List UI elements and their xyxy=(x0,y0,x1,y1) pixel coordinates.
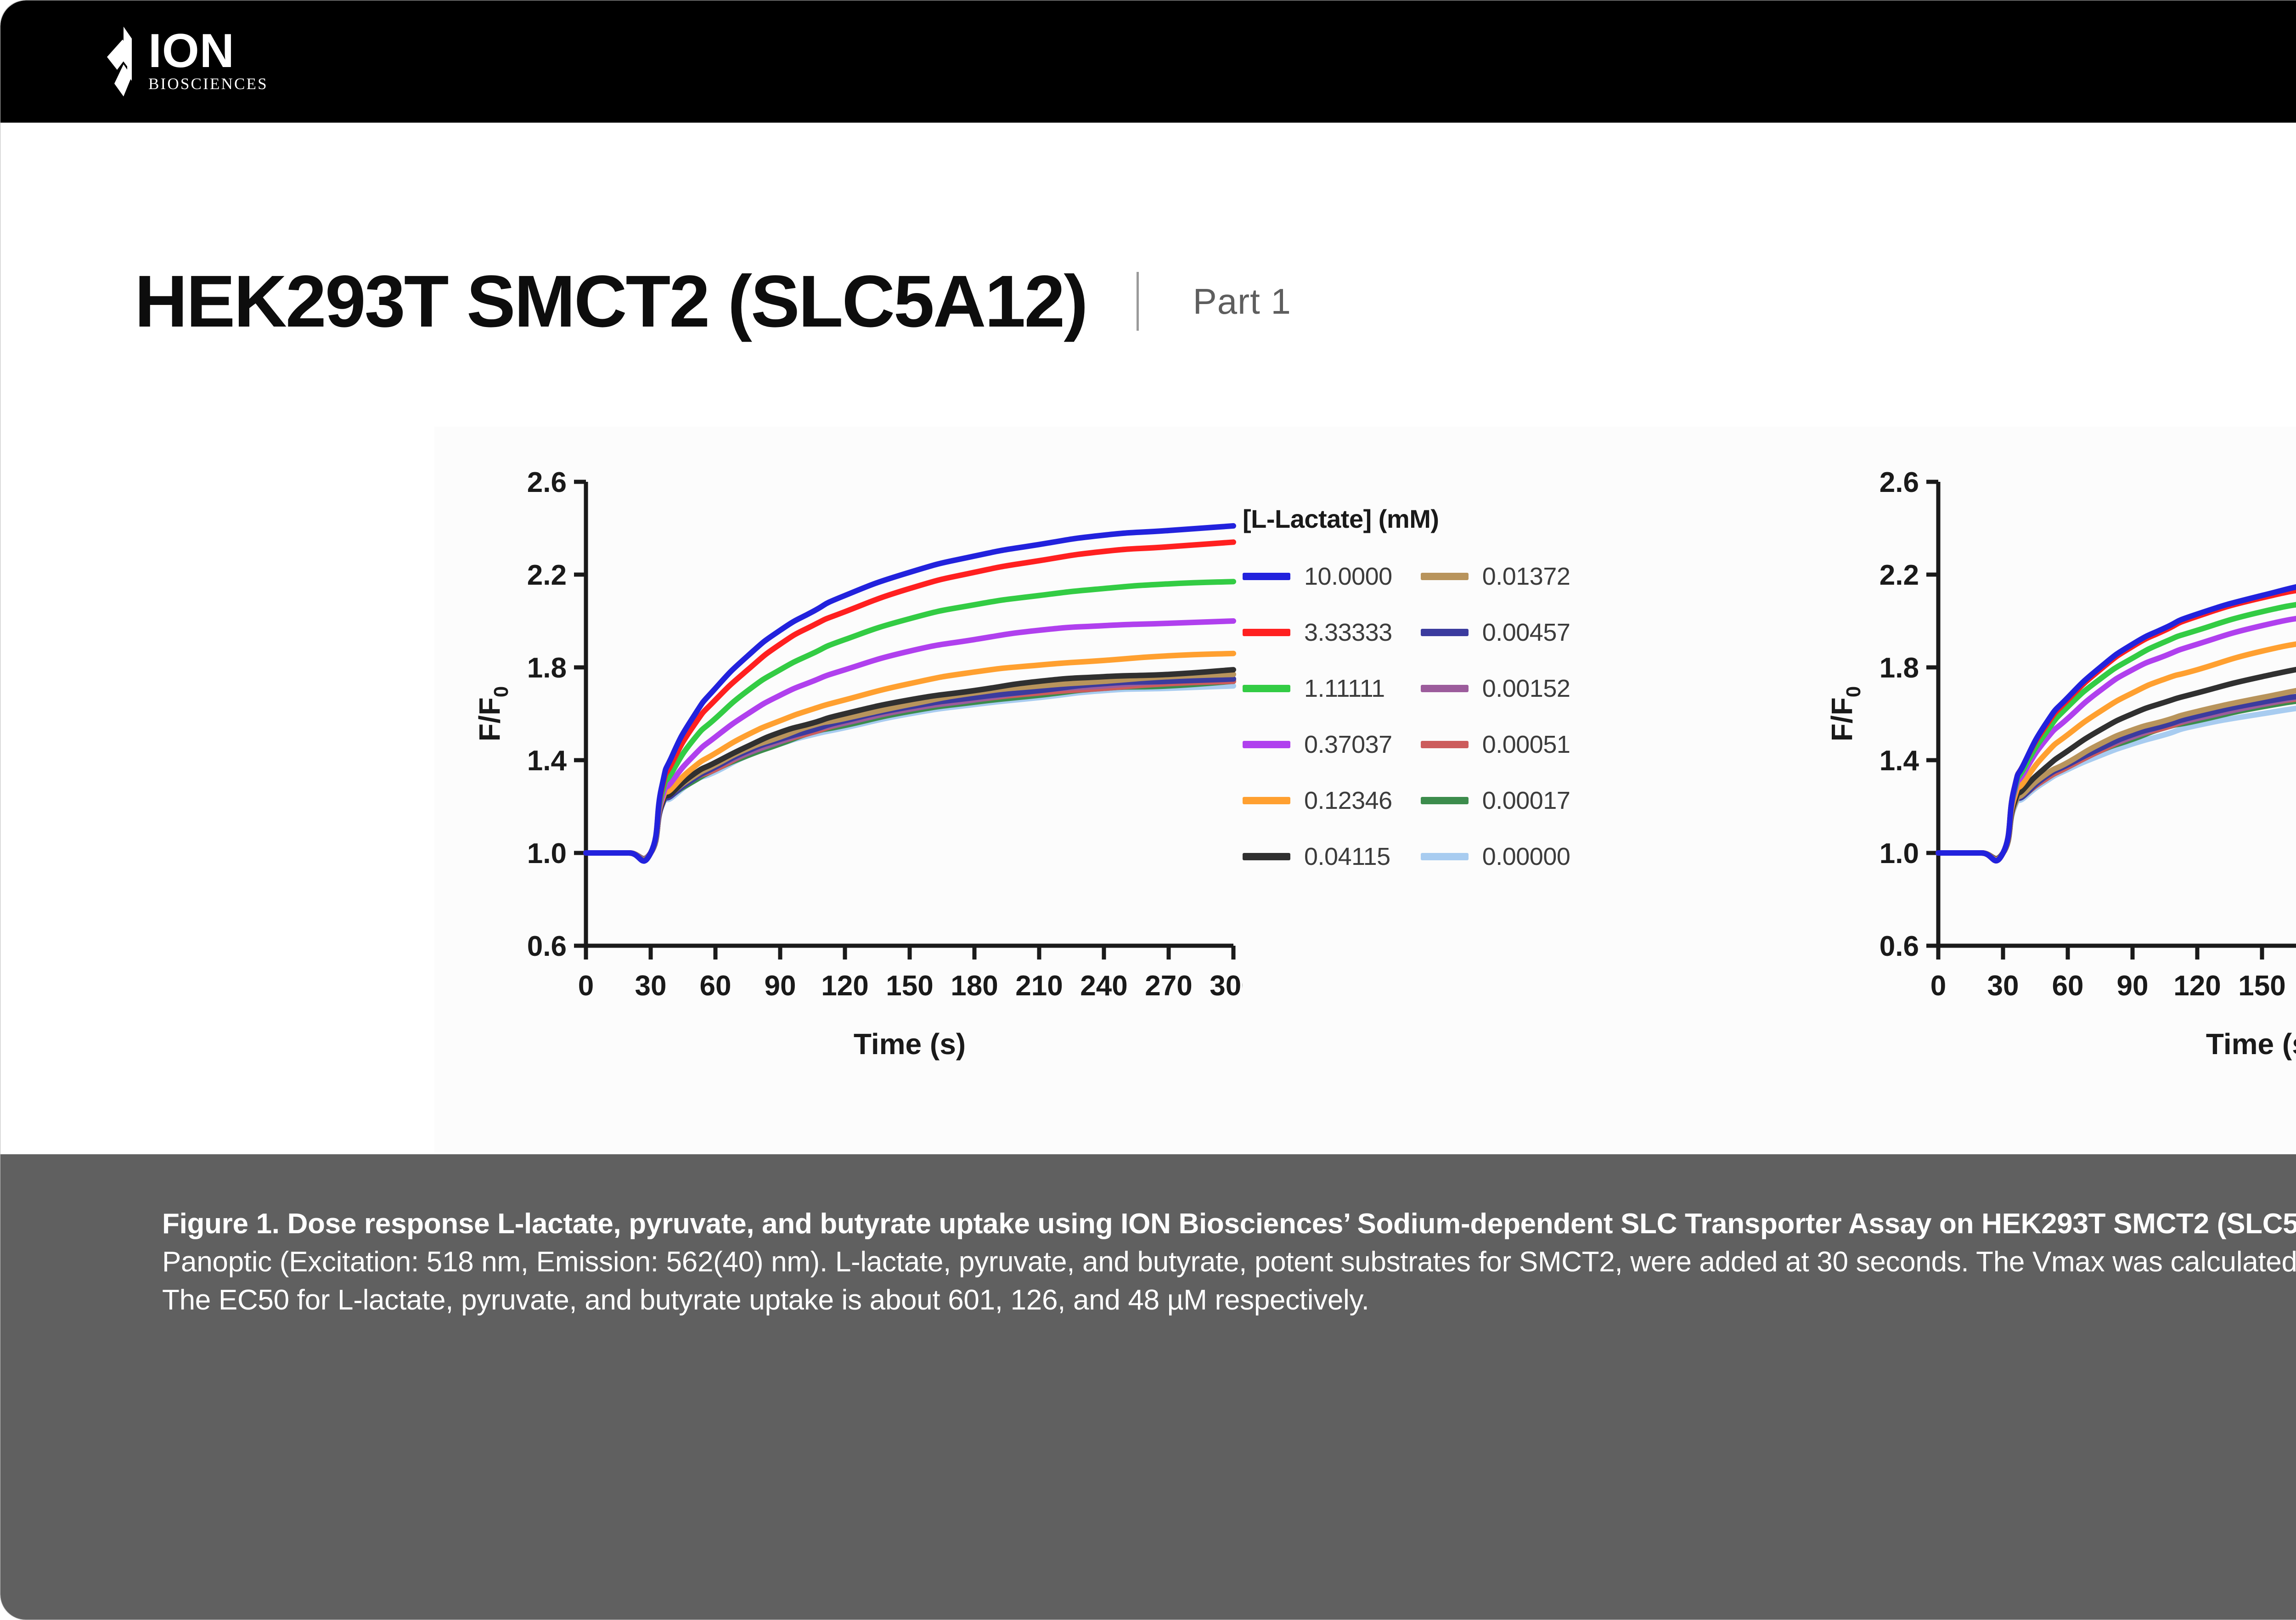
plot-svg-pyruvate: 0.61.01.41.82.22.60306090120150180210240… xyxy=(1787,427,2296,1152)
logo-secondary-text: BIOSCIENCES xyxy=(148,75,268,93)
legend-l-lactate: [L-Lactate] (mM) 10.00003.333331.111110.… xyxy=(1243,427,1771,885)
legend-column: 10.00003.333331.111110.370370.123460.041… xyxy=(1243,548,1392,885)
legend-item[interactable]: 10.0000 xyxy=(1243,548,1392,604)
legend-swatch xyxy=(1243,629,1290,636)
legend-item[interactable]: 0.00017 xyxy=(1421,773,1570,829)
svg-text:210: 210 xyxy=(1015,970,1063,1002)
legend-label: 0.00000 xyxy=(1482,842,1570,871)
chart-l-lactate: 0.61.01.41.82.22.60306090120150180210240… xyxy=(434,427,1787,1152)
svg-text:30: 30 xyxy=(635,970,667,1002)
svg-text:2.6: 2.6 xyxy=(527,467,567,498)
svg-text:Time (s): Time (s) xyxy=(2206,1027,2296,1061)
svg-text:90: 90 xyxy=(2117,970,2149,1002)
figure-panel: 0.61.01.41.82.22.60306090120150180210240… xyxy=(434,427,2296,1152)
legend-swatch xyxy=(1243,685,1290,692)
title-row: HEK293T SMCT2 (SLC5A12) Part 1 xyxy=(0,258,2296,345)
svg-text:120: 120 xyxy=(821,970,868,1002)
legend-label: 0.00017 xyxy=(1482,786,1570,815)
svg-text:F/F0: F/F0 xyxy=(473,686,512,741)
legend-label: 3.33333 xyxy=(1304,618,1392,647)
legend-swatch xyxy=(1421,853,1469,860)
legend-item[interactable]: 0.12346 xyxy=(1243,773,1392,829)
logo-primary-text: ION xyxy=(148,30,268,73)
legend-swatch xyxy=(1421,797,1469,804)
legend-label: 0.00051 xyxy=(1482,730,1570,759)
page-header: ION BIOSCIENCES Cell lines xyxy=(0,0,2296,123)
svg-text:F/F0: F/F0 xyxy=(1825,686,1865,741)
plot-area-l-lactate: 0.61.01.41.82.22.60306090120150180210240… xyxy=(434,427,1243,1152)
legend-item[interactable]: 0.00051 xyxy=(1421,717,1570,773)
legend-swatch xyxy=(1243,741,1290,748)
legend-label: 0.01372 xyxy=(1482,562,1570,591)
svg-text:0.6: 0.6 xyxy=(527,931,567,962)
svg-text:0: 0 xyxy=(1930,970,1946,1002)
legend-item[interactable]: 0.00152 xyxy=(1421,660,1570,717)
svg-text:1.4: 1.4 xyxy=(1880,745,1919,777)
svg-text:1.0: 1.0 xyxy=(1880,838,1919,869)
legend-item[interactable]: 0.00000 xyxy=(1421,829,1570,885)
legend-swatch xyxy=(1243,573,1290,580)
slide-card: ION BIOSCIENCES Cell lines HEK293T SMCT2… xyxy=(0,0,2296,1620)
legend-item[interactable]: 1.11111 xyxy=(1243,660,1392,717)
legend-swatch xyxy=(1421,741,1469,748)
svg-text:120: 120 xyxy=(2173,970,2221,1002)
svg-text:270: 270 xyxy=(1145,970,1192,1002)
legend-title: [L-Lactate] (mM) xyxy=(1243,504,1771,534)
title-divider xyxy=(1137,272,1139,331)
legend-label: 10.0000 xyxy=(1304,562,1392,591)
ion-diamond-logo-icon xyxy=(100,27,138,96)
title-part-label: Part 1 xyxy=(1193,281,1291,322)
legend-item[interactable]: 0.04115 xyxy=(1243,829,1392,885)
legend-item[interactable]: 3.33333 xyxy=(1243,604,1392,660)
caption-bold-text: Figure 1. Dose response L-lactate, pyruv… xyxy=(162,1208,2296,1240)
legend-grid: 10.00003.333331.111110.370370.123460.041… xyxy=(1243,548,1570,885)
svg-text:150: 150 xyxy=(2238,970,2285,1002)
svg-text:2.2: 2.2 xyxy=(527,559,567,591)
brand-logo[interactable]: ION BIOSCIENCES xyxy=(100,27,268,96)
svg-text:1.8: 1.8 xyxy=(527,652,567,684)
svg-text:0.6: 0.6 xyxy=(1880,931,1919,962)
plot-area-pyruvate: 0.61.01.41.82.22.60306090120150180210240… xyxy=(1787,427,2296,1152)
legend-swatch xyxy=(1421,685,1469,692)
legend-swatch xyxy=(1243,797,1290,804)
legend-item[interactable]: 0.01372 xyxy=(1421,548,1570,604)
page-title: HEK293T SMCT2 (SLC5A12) xyxy=(135,265,1087,338)
svg-text:0: 0 xyxy=(578,970,594,1002)
svg-text:1.8: 1.8 xyxy=(1880,652,1919,684)
plot-svg-l-lactate: 0.61.01.41.82.22.60306090120150180210240… xyxy=(434,427,1243,1152)
legend-label: 0.00152 xyxy=(1482,674,1570,703)
svg-text:1.4: 1.4 xyxy=(527,745,567,777)
svg-text:2.2: 2.2 xyxy=(1880,559,1919,591)
legend-label: 0.37037 xyxy=(1304,730,1392,759)
svg-text:300: 300 xyxy=(1210,970,1243,1002)
svg-text:60: 60 xyxy=(2052,970,2084,1002)
legend-item[interactable]: 0.37037 xyxy=(1243,717,1392,773)
legend-swatch xyxy=(1421,629,1469,636)
svg-text:2.6: 2.6 xyxy=(1880,467,1919,498)
svg-text:180: 180 xyxy=(951,970,998,1002)
chart-pyruvate: 0.61.01.41.82.22.60306090120150180210240… xyxy=(1787,427,2296,1152)
legend-swatch xyxy=(1243,853,1290,860)
legend-label: 0.04115 xyxy=(1304,842,1390,871)
legend-item[interactable]: 0.00457 xyxy=(1421,604,1570,660)
svg-text:60: 60 xyxy=(700,970,732,1002)
legend-label: 1.11111 xyxy=(1304,674,1385,703)
svg-text:150: 150 xyxy=(886,970,933,1002)
legend-swatch xyxy=(1421,573,1469,580)
svg-text:1.0: 1.0 xyxy=(527,838,567,869)
svg-text:30: 30 xyxy=(1987,970,2019,1002)
figure-caption: Figure 1. Dose response L-lactate, pyruv… xyxy=(0,1154,2296,1620)
legend-label: 0.12346 xyxy=(1304,786,1392,815)
legend-label: 0.00457 xyxy=(1482,618,1570,647)
svg-text:Time (s): Time (s) xyxy=(854,1027,966,1061)
svg-text:240: 240 xyxy=(1080,970,1127,1002)
svg-text:90: 90 xyxy=(765,970,796,1002)
legend-column: 0.013720.004570.001520.000510.000170.000… xyxy=(1421,548,1570,885)
